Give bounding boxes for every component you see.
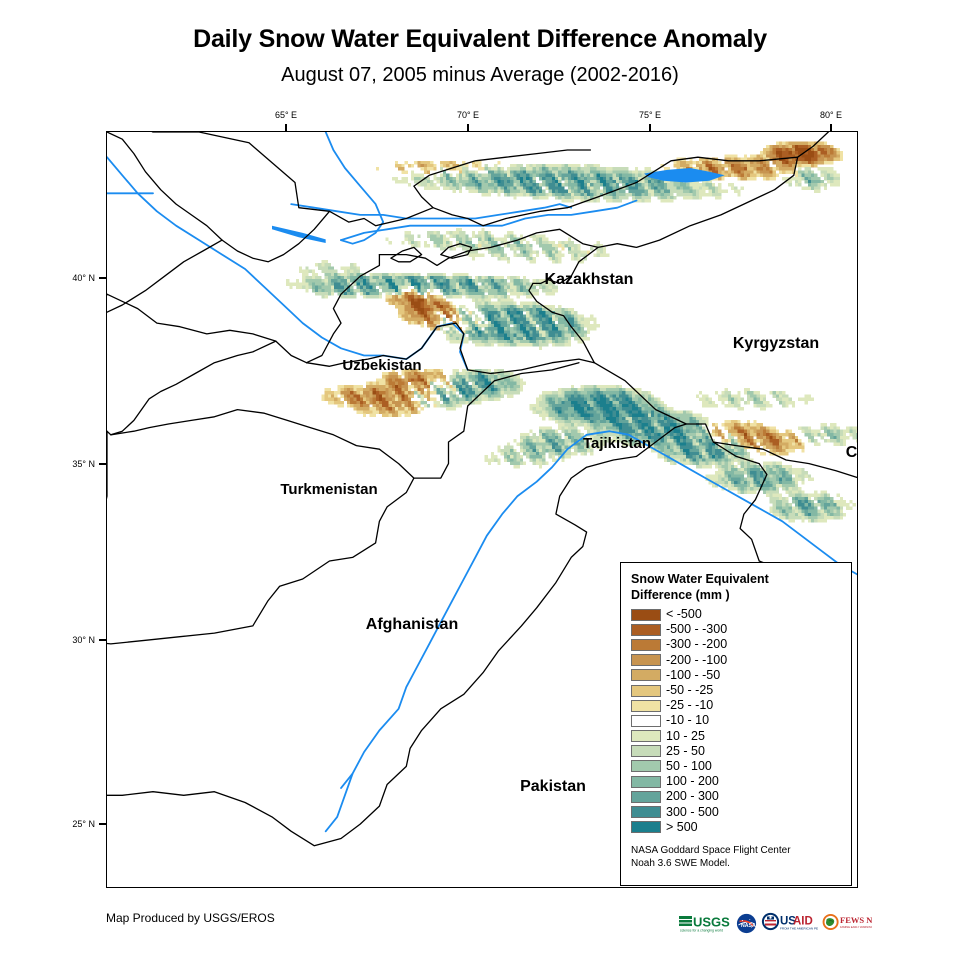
country-label: Turkmenistan xyxy=(280,481,377,498)
legend-swatch xyxy=(631,609,661,621)
legend-swatch xyxy=(631,685,661,697)
page-title: Daily Snow Water Equivalent Difference A… xyxy=(0,24,960,54)
usgs-logo: USGS science for a changing world xyxy=(678,913,732,933)
legend-label: < -500 xyxy=(666,608,702,621)
legend-swatch xyxy=(631,791,661,803)
legend-row: -25 - -10 xyxy=(631,698,843,713)
legend-swatch xyxy=(631,821,661,833)
legend-swatch xyxy=(631,806,661,818)
legend-swatch xyxy=(631,654,661,666)
river xyxy=(107,157,468,370)
legend-row: -200 - -100 xyxy=(631,653,843,668)
svg-text:FROM THE AMERICAN PEOPLE: FROM THE AMERICAN PEOPLE xyxy=(780,927,818,931)
legend-label: 25 - 50 xyxy=(666,745,705,758)
fewsnet-logo: FEWS NET FAMINE EARLY WARNING SYSTEMS NE… xyxy=(822,912,872,934)
lon-label: 70° E xyxy=(457,110,479,120)
legend-label: -100 - -50 xyxy=(666,669,720,682)
legend-label: 50 - 100 xyxy=(666,760,712,773)
legend-class-list: < -500-500 - -300-300 - -200-200 - -100-… xyxy=(631,607,843,835)
legend-row: 25 - 50 xyxy=(631,744,843,759)
legend-credit-line1: NASA Goddard Space Flight Center xyxy=(631,844,843,858)
legend-label: 300 - 500 xyxy=(666,806,719,819)
legend-swatch xyxy=(631,700,661,712)
legend-credit: NASA Goddard Space Flight Center Noah 3.… xyxy=(631,844,843,871)
legend-label: > 500 xyxy=(666,821,698,834)
lat-tick xyxy=(99,277,106,279)
country-label: Uzbekistan xyxy=(342,357,421,374)
lat-label: 30° N xyxy=(72,635,95,645)
lat-label: 25° N xyxy=(72,819,95,829)
lat-label: 40° N xyxy=(72,273,95,283)
logo-strip: USGS science for a changing world NASA U… xyxy=(678,907,863,939)
legend-swatch xyxy=(631,669,661,681)
legend-credit-line2: Noah 3.6 SWE Model. xyxy=(631,857,843,871)
svg-text:science for a changing world: science for a changing world xyxy=(680,929,723,933)
legend-row: 300 - 500 xyxy=(631,804,843,819)
lon-label: 75° E xyxy=(639,110,661,120)
legend-swatch xyxy=(631,730,661,742)
legend-label: 100 - 200 xyxy=(666,775,719,788)
lon-tick xyxy=(467,124,469,131)
legend-swatch xyxy=(631,745,661,757)
country-label: Tajikistan xyxy=(583,435,651,452)
country-label: Kyrgyzstan xyxy=(733,335,819,352)
legend-row: < -500 xyxy=(631,607,843,622)
legend-row: -100 - -50 xyxy=(631,668,843,683)
legend-swatch xyxy=(631,776,661,788)
lon-label: 80° E xyxy=(820,110,842,120)
svg-text:FAMINE EARLY WARNING SYSTEMS N: FAMINE EARLY WARNING SYSTEMS NETWORK xyxy=(840,925,872,929)
legend-panel: Snow Water Equivalent Difference (mm ) <… xyxy=(620,562,852,886)
legend-row: 200 - 300 xyxy=(631,789,843,804)
country-label: Pakistan xyxy=(520,778,586,795)
lat-tick xyxy=(99,823,106,825)
legend-label: -500 - -300 xyxy=(666,623,727,636)
lon-tick xyxy=(649,124,651,131)
lake-aydarkul xyxy=(272,226,326,243)
lat-tick xyxy=(99,463,106,465)
lon-tick xyxy=(830,124,832,131)
country-border xyxy=(307,255,380,363)
legend-label: 10 - 25 xyxy=(666,730,705,743)
legend-label: -25 - -10 xyxy=(666,699,713,712)
legend-row: 10 - 25 xyxy=(631,729,843,744)
country-label: China xyxy=(846,444,858,461)
legend-row: 100 - 200 xyxy=(631,774,843,789)
lat-tick xyxy=(99,639,106,641)
country-label: Kazakhstan xyxy=(545,271,634,288)
country-border xyxy=(107,294,307,363)
legend-label: -50 - -25 xyxy=(666,684,713,697)
page-subtitle: August 07, 2005 minus Average (2002-2016… xyxy=(0,62,960,88)
country-border xyxy=(107,240,222,316)
legend-swatch xyxy=(631,760,661,772)
legend-title-line1: Snow Water Equivalent xyxy=(631,571,843,587)
legend-label: -300 - -200 xyxy=(666,638,727,651)
legend-title-line2: Difference (mm ) xyxy=(631,587,843,603)
lon-label: 65° E xyxy=(275,110,297,120)
legend-row: > 500 xyxy=(631,820,843,835)
lat-label: 35° N xyxy=(72,459,95,469)
svg-text:FEWS NET: FEWS NET xyxy=(840,915,872,925)
legend-label: 200 - 300 xyxy=(666,790,719,803)
nasa-logo: NASA xyxy=(736,913,757,934)
legend-swatch xyxy=(631,639,661,651)
svg-text:USGS: USGS xyxy=(693,915,730,930)
svg-text:NASA: NASA xyxy=(741,922,756,928)
legend-row: -500 - -300 xyxy=(631,622,843,637)
legend-row: -50 - -25 xyxy=(631,683,843,698)
legend-title: Snow Water Equivalent Difference (mm ) xyxy=(631,571,843,603)
title-block: Daily Snow Water Equivalent Difference A… xyxy=(0,24,960,88)
footer-credit: Map Produced by USGS/EROS xyxy=(106,911,275,925)
legend-swatch xyxy=(631,624,661,636)
legend-row: 50 - 100 xyxy=(631,759,843,774)
country-border xyxy=(111,410,414,479)
usaid-logo: US AID FROM THE AMERICAN PEOPLE xyxy=(761,912,818,934)
legend-swatch xyxy=(631,715,661,727)
legend-label: -200 - -100 xyxy=(666,654,727,667)
lon-tick xyxy=(285,124,287,131)
country-label: Afghanistan xyxy=(366,616,458,633)
legend-row: -10 - 10 xyxy=(631,713,843,728)
river xyxy=(326,132,384,244)
legend-label: -10 - 10 xyxy=(666,714,709,727)
legend-row: -300 - -200 xyxy=(631,637,843,652)
